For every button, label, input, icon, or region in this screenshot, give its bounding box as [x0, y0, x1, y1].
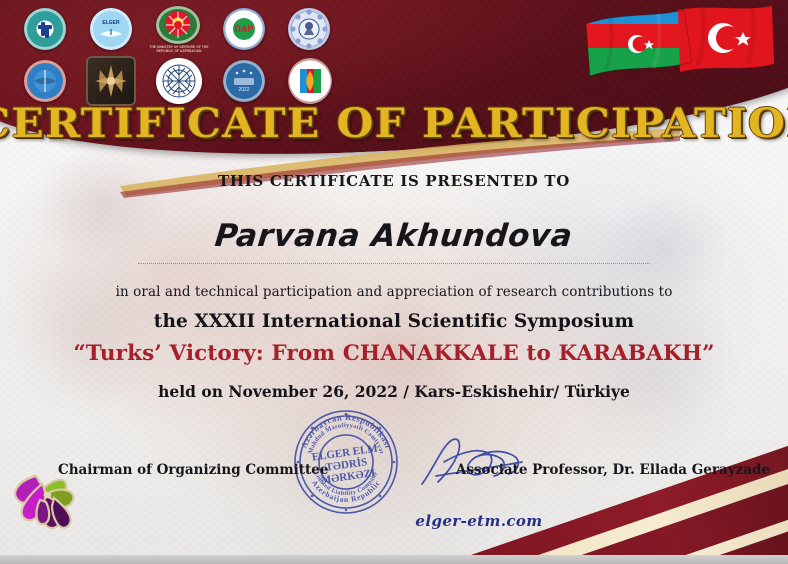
signatory-role: Chairman of Organizing Committee	[58, 462, 328, 478]
logo-european-blue: 2022	[223, 60, 265, 102]
logo-turkic-star	[88, 58, 134, 104]
certificate-headline: CERTIFICATE OF PARTICIPATION	[0, 104, 788, 144]
flag-turkey	[670, 2, 780, 82]
partner-logos: ELGER THE MINISTRY OF DEFENSE OF THE REP…	[8, 4, 338, 108]
svg-text:ELGER: ELGER	[102, 20, 120, 26]
logo-dap-platform: DAP	[223, 8, 265, 50]
logo-ataturk-portrait	[288, 8, 330, 50]
logo-white-snowflake	[156, 58, 202, 104]
logo-ministry-of-defence	[156, 6, 200, 44]
certificate-page: ELGER THE MINISTRY OF DEFENSE OF THE REP…	[0, 0, 788, 564]
recipient-name-row: Parvana Akhundova	[0, 218, 788, 254]
svg-text:DAP: DAP	[234, 24, 253, 34]
recipient-name-underline	[138, 263, 650, 264]
signatory-name: Associate Professor, Dr. Ellada Gerayzad…	[456, 462, 770, 478]
held-on-line: held on November 26, 2022 / Kars-Eskishe…	[0, 382, 788, 401]
svg-text:2022: 2022	[238, 87, 249, 93]
flags-group	[580, 2, 780, 102]
logo-azerbaijan-flame	[288, 58, 332, 104]
presented-to-label: THIS CERTIFICATE IS PRESENTED TO	[0, 172, 788, 190]
event-line: the XXXII International Scientific Sympo…	[0, 311, 788, 332]
logo-kafkas-universitesi	[24, 8, 66, 50]
orchid-flower-decoration	[6, 466, 90, 540]
logo-institute-blue-globe	[24, 60, 66, 102]
website-url: elger-etm.com	[0, 512, 788, 530]
participation-line: in oral and technical participation and …	[0, 284, 788, 300]
recipient-name: Parvana Akhundova	[213, 218, 574, 254]
bottom-bar	[0, 555, 788, 564]
logo-elger: ELGER	[90, 8, 132, 50]
logo-ministry-of-defence-caption: THE MINISTRY OF DEFENSE OF THE REPUBLIC …	[148, 45, 210, 53]
event-title: “Turks’ Victory: From CHANAKKALE to KARA…	[0, 341, 788, 366]
